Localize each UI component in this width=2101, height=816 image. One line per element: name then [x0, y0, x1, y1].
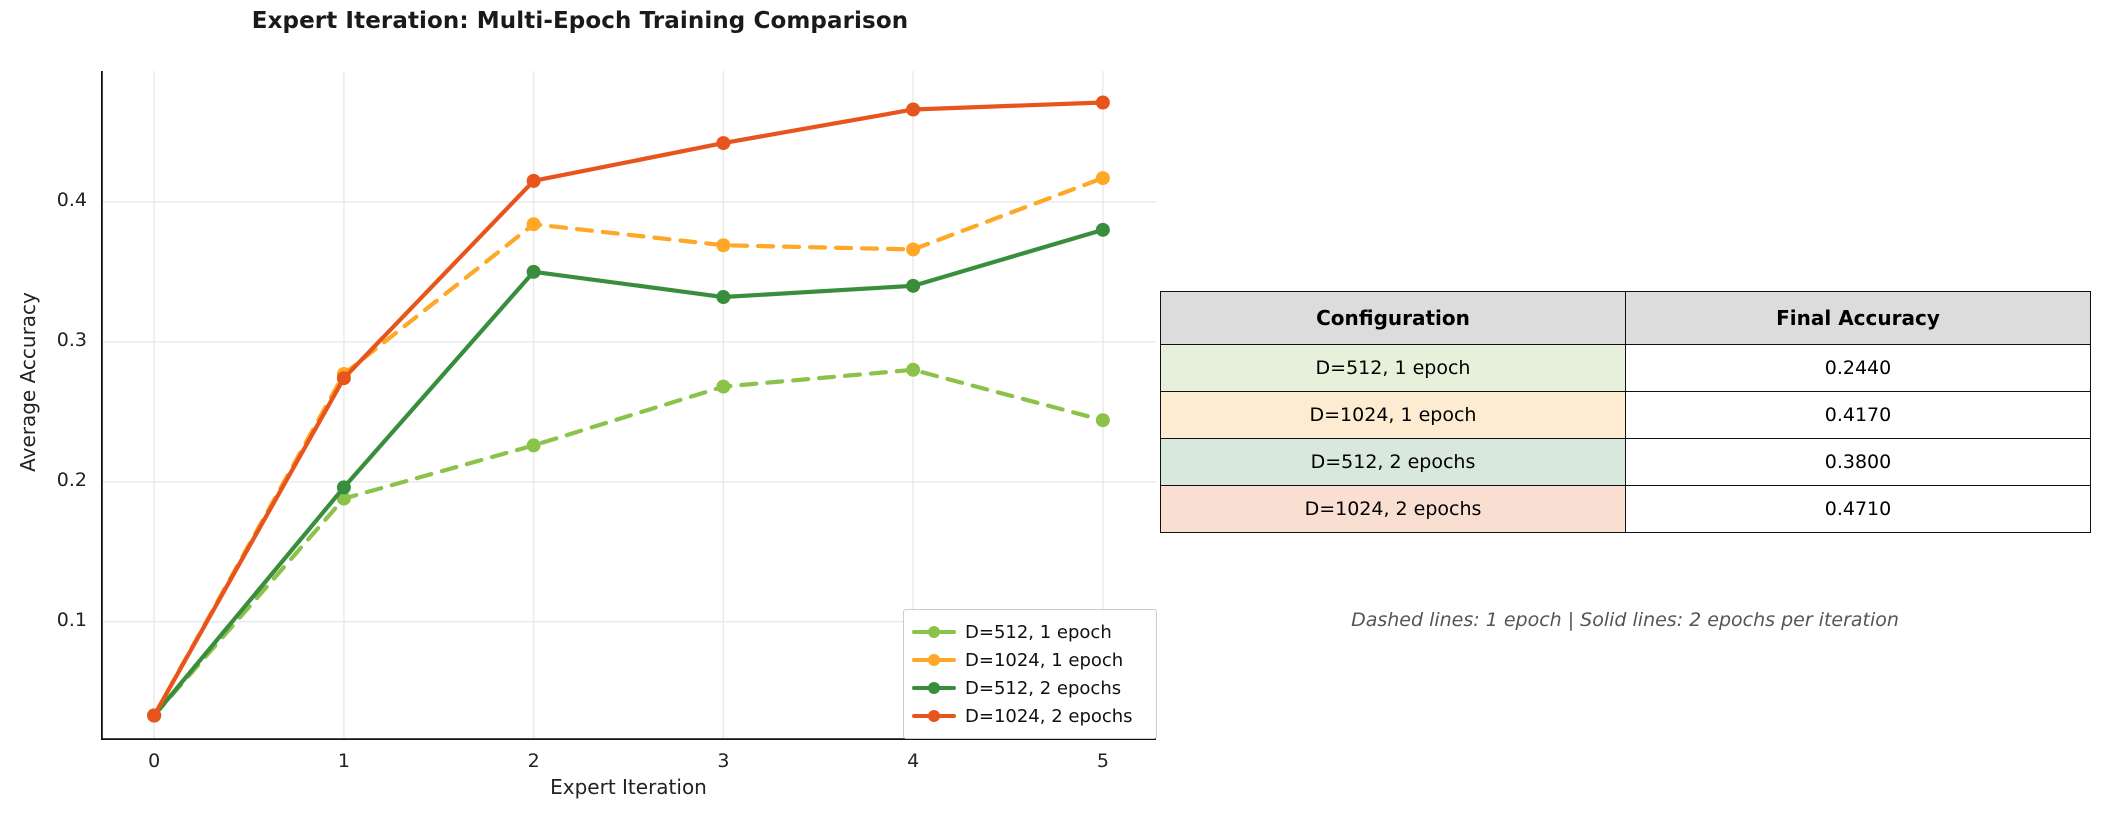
x-tick-label: 4 — [873, 750, 953, 772]
legend-item-label: D=512, 2 epochs — [965, 678, 1121, 699]
x-tick-label: 2 — [494, 750, 574, 772]
cell-configuration: D=1024, 1 epoch — [1161, 392, 1626, 439]
data-point-marker — [1096, 171, 1110, 185]
column-header-configuration: Configuration — [1161, 292, 1626, 345]
legend-swatch-icon — [912, 679, 956, 697]
data-point-marker — [716, 380, 730, 394]
y-tick-label: 0.1 — [9, 609, 87, 631]
table-row: D=512, 1 epoch0.2440 — [1161, 345, 2091, 392]
data-point-marker — [1096, 223, 1110, 237]
figure-root: Expert Iteration: Multi-Epoch Training C… — [0, 0, 2101, 816]
legend-swatch-icon — [912, 707, 956, 725]
x-tick-label: 3 — [683, 750, 763, 772]
x-tick-label: 0 — [114, 750, 194, 772]
final-accuracy-table: Configuration Final Accuracy D=512, 1 ep… — [1160, 291, 2091, 533]
data-point-marker — [906, 102, 920, 116]
data-point-marker — [337, 480, 351, 494]
legend-item-label: D=1024, 1 epoch — [965, 650, 1123, 671]
x-axis-label: Expert Iteration — [101, 775, 1156, 799]
data-point-marker — [337, 371, 351, 385]
table-header-row: Configuration Final Accuracy — [1161, 292, 2091, 345]
data-point-marker — [527, 438, 541, 452]
cell-configuration: D=512, 1 epoch — [1161, 345, 1626, 392]
legend-item-2[interactable]: D=512, 2 epochs — [912, 674, 1146, 702]
data-point-marker — [716, 136, 730, 150]
table-row: D=1024, 2 epochs0.4710 — [1161, 486, 2091, 533]
chart-legend: D=512, 1 epochD=1024, 1 epochD=512, 2 ep… — [903, 609, 1157, 739]
legend-item-0[interactable]: D=512, 1 epoch — [912, 618, 1146, 646]
page-title: Expert Iteration: Multi-Epoch Training C… — [0, 8, 1160, 34]
cell-final-accuracy: 0.3800 — [1626, 439, 2091, 486]
data-point-marker — [1096, 413, 1110, 427]
data-point-marker — [527, 217, 541, 231]
table-row: D=512, 2 epochs0.3800 — [1161, 439, 2091, 486]
legend-item-1[interactable]: D=1024, 1 epoch — [912, 646, 1146, 674]
data-point-marker — [527, 265, 541, 279]
data-point-marker — [906, 363, 920, 377]
cell-configuration: D=1024, 2 epochs — [1161, 486, 1626, 533]
data-point-marker — [906, 242, 920, 256]
cell-configuration: D=512, 2 epochs — [1161, 439, 1626, 486]
legend-item-3[interactable]: D=1024, 2 epochs — [912, 702, 1146, 730]
data-point-marker — [527, 174, 541, 188]
legend-item-label: D=512, 1 epoch — [965, 622, 1112, 643]
y-tick-label: 0.4 — [9, 189, 87, 211]
x-tick-label: 5 — [1063, 750, 1143, 772]
cell-final-accuracy: 0.2440 — [1626, 345, 2091, 392]
data-point-marker — [147, 709, 161, 723]
legend-swatch-icon — [912, 623, 956, 641]
data-point-marker — [716, 290, 730, 304]
cell-final-accuracy: 0.4710 — [1626, 486, 2091, 533]
x-tick-label: 1 — [304, 750, 384, 772]
y-axis-label: Average Accuracy — [16, 222, 40, 542]
data-point-marker — [716, 238, 730, 252]
legend-swatch-icon — [912, 651, 956, 669]
legend-item-label: D=1024, 2 epochs — [965, 706, 1133, 727]
cell-final-accuracy: 0.4170 — [1626, 392, 2091, 439]
column-header-final-accuracy: Final Accuracy — [1626, 292, 2091, 345]
table-row: D=1024, 1 epoch0.4170 — [1161, 392, 2091, 439]
table-caption: Dashed lines: 1 epoch | Solid lines: 2 e… — [1160, 609, 2090, 631]
data-point-marker — [906, 279, 920, 293]
data-point-marker — [1096, 95, 1110, 109]
